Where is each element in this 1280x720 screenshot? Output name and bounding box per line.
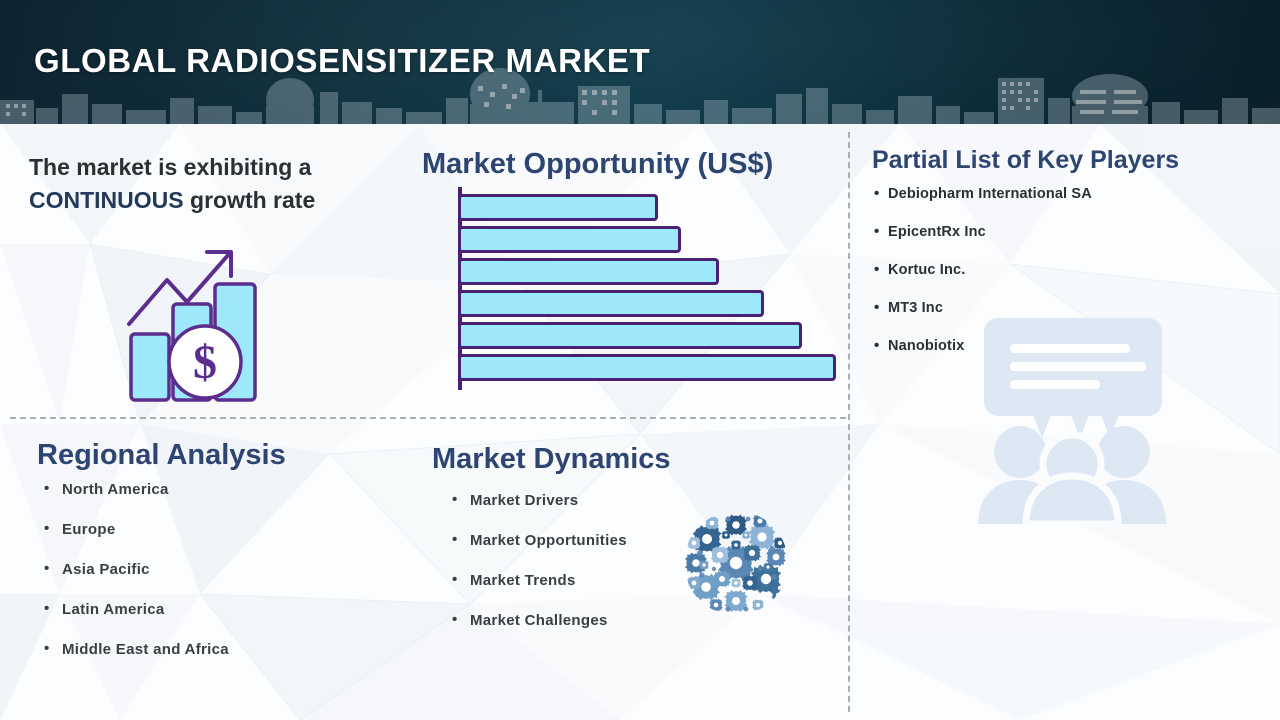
content-stage: The market is exhibiting a CONTINUOUS gr… — [0, 124, 1280, 720]
growth-headline-line1: The market is exhibiting a — [29, 154, 311, 181]
chart-bars-group — [458, 194, 836, 390]
growth-highlight-word: CONTINUOUS — [29, 187, 184, 213]
chart-bar — [458, 290, 764, 317]
list-item: Asia Pacific — [42, 561, 229, 578]
chart-bar — [458, 354, 836, 381]
list-item: Debiopharm International SA — [874, 186, 1092, 202]
list-item: EpicentRx Inc — [874, 224, 1092, 240]
list-item: Market Opportunities — [448, 532, 627, 549]
market-opportunity-panel: Market Opportunity (US$) — [420, 124, 848, 414]
market-opportunity-chart — [438, 187, 838, 397]
market-dynamics-title: Market Dynamics — [432, 443, 671, 476]
list-item: Market Drivers — [448, 492, 627, 509]
key-players-panel: Partial List of Key Players Debiopharm I… — [848, 124, 1280, 720]
market-dynamics-panel: Market Dynamics Market DriversMarket Opp… — [420, 419, 848, 719]
list-item: Market Challenges — [448, 612, 627, 629]
key-players-title: Partial List of Key Players — [872, 146, 1179, 175]
chart-bar — [458, 194, 658, 221]
page-header: GLOBAL RADIOSENSITIZER MARKET — [0, 0, 1280, 124]
svg-text:$: $ — [193, 336, 217, 389]
growth-headline-line2: CONTINUOUS growth rate — [29, 187, 315, 214]
regional-analysis-panel: Regional Analysis North AmericaEuropeAsi… — [0, 419, 420, 719]
chart-bar — [458, 258, 719, 285]
regional-analysis-title: Regional Analysis — [37, 439, 286, 472]
people-chat-bubble-icon — [974, 312, 1170, 524]
list-item: Market Trends — [448, 572, 627, 589]
growth-panel: The market is exhibiting a CONTINUOUS gr… — [0, 124, 420, 414]
regional-analysis-list: North AmericaEuropeAsia PacificLatin Ame… — [42, 481, 229, 681]
gears-circle-icon — [682, 509, 790, 617]
growth-bar-chart-dollar-icon: $ — [125, 244, 273, 402]
list-item: Middle East and Africa — [42, 641, 229, 658]
chart-bar — [458, 226, 681, 253]
list-item: North America — [42, 481, 229, 498]
market-opportunity-title: Market Opportunity (US$) — [422, 148, 773, 181]
list-item: Europe — [42, 521, 229, 538]
page-title: GLOBAL RADIOSENSITIZER MARKET — [34, 42, 650, 80]
list-item: Latin America — [42, 601, 229, 618]
list-item: Kortuc Inc. — [874, 262, 1092, 278]
market-dynamics-list: Market DriversMarket OpportunitiesMarket… — [448, 492, 627, 652]
chart-bar — [458, 322, 802, 349]
growth-headline-rest: growth rate — [184, 187, 316, 213]
